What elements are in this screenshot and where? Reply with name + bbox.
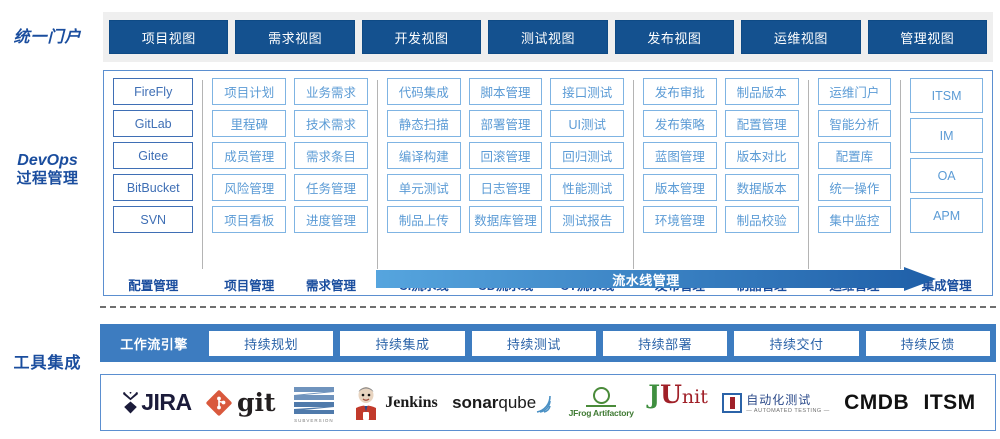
sonarqube-logo-text-light: qube [498, 393, 536, 413]
capability-cell[interactable]: 配置管理 [725, 110, 799, 137]
capability-cell[interactable]: IM [910, 118, 983, 153]
git-mark-icon [206, 390, 232, 416]
jenkins-logo-text: Jenkins [385, 394, 437, 412]
automated-testing-logo: 自动化测试 — AUTOMATED TESTING — [722, 380, 830, 426]
portal-view-bar: 项目视图 需求视图 开发视图 测试视图 发布视图 运维视图 管理视图 [103, 12, 993, 62]
itsm-logo: ITSM [924, 380, 976, 426]
column-divider [633, 80, 634, 269]
devops-capability-grid: FireFly GitLab Gitee BitBucket SVN 配置管理 … [104, 71, 992, 269]
capability-cell[interactable]: Gitee [113, 142, 193, 169]
rail-label-devops-subtitle: 过程管理 [0, 170, 95, 187]
capability-cell[interactable]: GitLab [113, 110, 193, 137]
capability-column-project: 项目计划 里程碑 成员管理 风险管理 项目看板 项目管理 [208, 78, 290, 269]
capability-cell[interactable]: 环境管理 [643, 206, 717, 233]
capability-cell[interactable]: 成员管理 [212, 142, 286, 169]
jenkins-logo: Jenkins [352, 380, 437, 426]
capability-cell[interactable]: 集中监控 [818, 206, 892, 233]
column-divider [808, 80, 809, 269]
capability-cell[interactable]: APM [910, 198, 983, 233]
capability-column-operations: 运维门户 智能分析 配置库 统一操作 集中监控 运维管理 [814, 78, 896, 269]
capability-cell[interactable]: 技术需求 [294, 110, 368, 137]
workflow-stage-delivery[interactable]: 持续交付 [734, 331, 858, 356]
portal-button-test[interactable]: 测试视图 [488, 20, 607, 54]
portal-button-operations[interactable]: 运维视图 [741, 20, 860, 54]
pipeline-arrow: 流水线管理 [376, 267, 936, 291]
capability-cell[interactable]: 需求条目 [294, 142, 368, 169]
pipeline-arrow-label: 流水线管理 [376, 267, 916, 291]
jira-logo: JIRA [120, 380, 191, 426]
tool-logo-strip: JIRA git SUBVERSION [100, 374, 996, 431]
automated-testing-logo-cn: 自动化测试 [746, 391, 830, 408]
capability-column-release: 发布审批 发布策略 蓝图管理 版本管理 环境管理 发布管理 [639, 78, 721, 269]
capability-cell[interactable]: 单元测试 [387, 174, 461, 201]
capability-cell[interactable]: 性能测试 [550, 174, 624, 201]
capability-cell[interactable]: 日志管理 [469, 174, 543, 201]
capability-cell[interactable]: 制品上传 [387, 206, 461, 233]
sonarqube-logo: sonarqube [452, 380, 554, 426]
capability-cell[interactable]: 运维门户 [818, 78, 892, 105]
capability-cell[interactable]: 发布审批 [643, 78, 717, 105]
automated-testing-logo-en: — AUTOMATED TESTING — [746, 408, 830, 414]
capability-column-artifact: 制品版本 配置管理 版本对比 数据版本 制品校验 制品管理 [721, 78, 803, 269]
automated-testing-mark-icon [722, 393, 742, 413]
capability-column-ct: 接口测试 UI测试 回归测试 性能测试 测试报告 CT流水线 [546, 78, 628, 269]
capability-cell[interactable]: SVN [113, 206, 193, 233]
workflow-stage-testing[interactable]: 持续测试 [472, 331, 596, 356]
capability-cell[interactable]: 项目看板 [212, 206, 286, 233]
junit-logo-nit: nit [682, 386, 708, 408]
subversion-logo-text: SUBVERSION [294, 418, 334, 423]
capability-cell[interactable]: 项目计划 [212, 78, 286, 105]
capability-cell[interactable]: 接口测试 [550, 78, 624, 105]
sonarqube-wave-icon [536, 393, 554, 413]
jira-logo-text: JIRA [141, 389, 191, 416]
column-divider [900, 80, 901, 269]
junit-logo-j: J [648, 380, 660, 409]
capability-cell[interactable]: 进度管理 [294, 206, 368, 233]
jira-mark-icon [120, 392, 141, 414]
column-divider [202, 80, 203, 269]
git-logo-text: git [237, 388, 276, 417]
capability-cell[interactable]: 制品版本 [725, 78, 799, 105]
capability-cell[interactable]: 版本管理 [643, 174, 717, 201]
capability-cell[interactable]: 统一操作 [818, 174, 892, 201]
capability-cell[interactable]: 制品校验 [725, 206, 799, 233]
workflow-stage-feedback[interactable]: 持续反馈 [866, 331, 990, 356]
capability-cell[interactable]: 任务管理 [294, 174, 368, 201]
capability-cell[interactable]: 脚本管理 [469, 78, 543, 105]
capability-cell[interactable]: 蓝图管理 [643, 142, 717, 169]
capability-cell[interactable]: 代码集成 [387, 78, 461, 105]
section-divider [100, 306, 996, 308]
junit-logo: JUnit [648, 380, 708, 426]
portal-button-management[interactable]: 管理视图 [868, 20, 987, 54]
jfrog-ring-icon [593, 387, 610, 404]
jfrog-artifactory-logo: JFrog Artifactory [569, 380, 634, 426]
junit-logo-u: U [660, 380, 682, 409]
workflow-stage-planning[interactable]: 持续规划 [209, 331, 333, 356]
workflow-engine-label: 工作流引擎 [106, 334, 202, 353]
devops-platform-diagram: 统一门户 DevOps 过程管理 工具集成 项目视图 需求视图 开发视图 测试视… [0, 0, 1000, 439]
rail-label-portal: 统一门户 [0, 29, 95, 47]
capability-cell[interactable]: 静态扫描 [387, 110, 461, 137]
rail-label-devops: DevOps 过程管理 [0, 152, 95, 188]
jenkins-butler-icon [352, 386, 380, 420]
workflow-stage-integration[interactable]: 持续集成 [340, 331, 464, 356]
column-divider [377, 80, 378, 269]
subversion-mark-icon [290, 383, 338, 417]
capability-column-title: 配置管理 [109, 275, 197, 294]
git-logo: git [206, 380, 276, 426]
portal-button-project[interactable]: 项目视图 [109, 20, 228, 54]
subversion-logo: SUBVERSION [290, 380, 338, 426]
capability-cell[interactable]: FireFly [113, 78, 193, 105]
capability-cell[interactable]: 数据版本 [725, 174, 799, 201]
cmdb-logo: CMDB [844, 380, 909, 426]
capability-cell[interactable]: UI测试 [550, 110, 624, 137]
capability-cell[interactable]: 发布策略 [643, 110, 717, 137]
portal-button-release[interactable]: 发布视图 [615, 20, 734, 54]
capability-column-title: 项目管理 [208, 275, 290, 294]
rail-label-devops-title: DevOps [17, 152, 77, 169]
capability-cell[interactable]: 编译构建 [387, 142, 461, 169]
capability-column-requirement: 业务需求 技术需求 需求条目 任务管理 进度管理 需求管理 [290, 78, 372, 269]
workflow-engine-bar: 工作流引擎 持续规划 持续集成 持续测试 持续部署 持续交付 持续反馈 [100, 324, 996, 362]
sonarqube-logo-text-bold: sonar [452, 393, 498, 413]
capability-cell[interactable]: OA [910, 158, 983, 193]
capability-cell[interactable]: 风险管理 [212, 174, 286, 201]
capability-cell[interactable]: 里程碑 [212, 110, 286, 137]
capability-column-cd: 脚本管理 部署管理 回滚管理 日志管理 数据库管理 CD流水线 [465, 78, 547, 269]
workflow-stage-deployment[interactable]: 持续部署 [603, 331, 727, 356]
capability-cell[interactable]: 配置库 [818, 142, 892, 169]
capability-column-integration: ITSM IM OA APM 集成管理 [906, 78, 987, 269]
capability-cell[interactable]: 回滚管理 [469, 142, 543, 169]
capability-column-title: 需求管理 [290, 275, 372, 294]
capability-column-config: FireFly GitLab Gitee BitBucket SVN 配置管理 [109, 78, 197, 269]
portal-button-development[interactable]: 开发视图 [362, 20, 481, 54]
capability-cell[interactable]: 版本对比 [725, 142, 799, 169]
capability-cell[interactable]: 回归测试 [550, 142, 624, 169]
portal-button-requirement[interactable]: 需求视图 [235, 20, 354, 54]
jfrog-bar-icon [586, 405, 616, 407]
jfrog-artifactory-logo-text: JFrog Artifactory [569, 408, 634, 418]
capability-cell[interactable]: 业务需求 [294, 78, 368, 105]
capability-cell[interactable]: 智能分析 [818, 110, 892, 137]
capability-column-ci: 代码集成 静态扫描 编译构建 单元测试 制品上传 CI流水线 [383, 78, 465, 269]
capability-cell[interactable]: 部署管理 [469, 110, 543, 137]
rail-label-tools: 工具集成 [0, 355, 95, 373]
capability-cell[interactable]: 测试报告 [550, 206, 624, 233]
capability-cell[interactable]: 数据库管理 [469, 206, 543, 233]
capability-cell[interactable]: ITSM [910, 78, 983, 113]
devops-capability-panel: FireFly GitLab Gitee BitBucket SVN 配置管理 … [103, 70, 993, 296]
capability-cell[interactable]: BitBucket [113, 174, 193, 201]
